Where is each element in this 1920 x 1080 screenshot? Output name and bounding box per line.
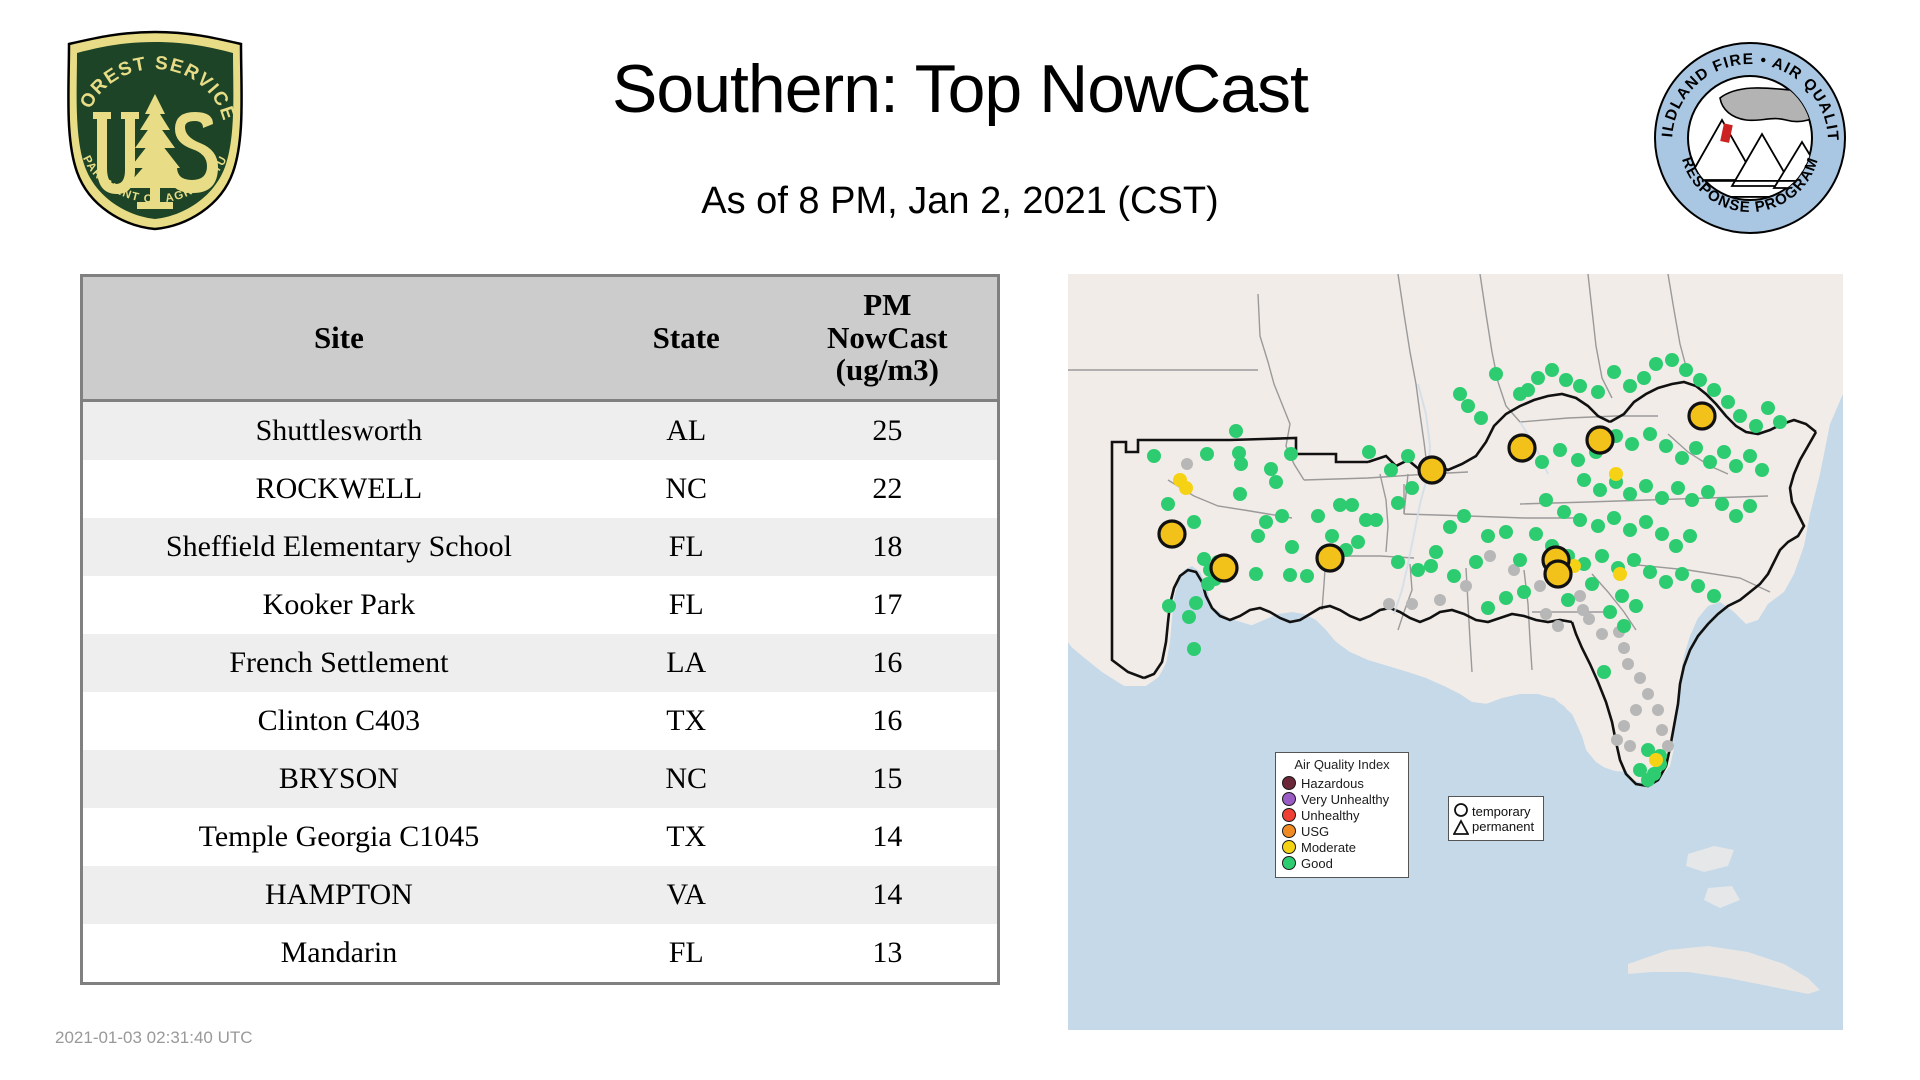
aqi-legend-label: Hazardous bbox=[1301, 776, 1364, 791]
table-row: BRYSONNC15 bbox=[83, 750, 997, 808]
aqi-legend-label: Unhealthy bbox=[1301, 808, 1360, 823]
site-cell: Mandarin bbox=[83, 924, 595, 982]
pm-header-line1: PM bbox=[778, 289, 997, 322]
aqi-legend-item: USG bbox=[1282, 823, 1402, 839]
pm-cell: 14 bbox=[778, 866, 997, 924]
aqi-swatch-icon bbox=[1282, 824, 1296, 838]
legend-temporary-label: temporary bbox=[1472, 804, 1534, 819]
table-header-row: Site State PM NowCast (ug/m3) bbox=[83, 277, 997, 401]
state-cell: NC bbox=[595, 750, 778, 808]
pm-cell: 22 bbox=[778, 460, 997, 518]
table-row: Temple Georgia C1045TX14 bbox=[83, 808, 997, 866]
aqi-legend-item: Unhealthy bbox=[1282, 807, 1402, 823]
table-row: HAMPTONVA14 bbox=[83, 866, 997, 924]
site-cell: French Settlement bbox=[83, 634, 595, 692]
page-subtitle: As of 8 PM, Jan 2, 2021 (CST) bbox=[360, 180, 1560, 223]
page-title: Southern: Top NowCast bbox=[360, 50, 1560, 128]
pm-header-line3: (ug/m3) bbox=[778, 354, 997, 387]
table-row: French SettlementLA16 bbox=[83, 634, 997, 692]
aqi-swatch-icon bbox=[1282, 856, 1296, 870]
pm-cell: 13 bbox=[778, 924, 997, 982]
table-row: ShuttlesworthAL25 bbox=[83, 401, 997, 461]
column-header-state: State bbox=[595, 277, 778, 401]
site-cell: BRYSON bbox=[83, 750, 595, 808]
table-row: ROCKWELLNC22 bbox=[83, 460, 997, 518]
site-cell: Temple Georgia C1045 bbox=[83, 808, 595, 866]
table-body: ShuttlesworthAL25ROCKWELLNC22Sheffield E… bbox=[83, 401, 997, 983]
state-cell: VA bbox=[595, 866, 778, 924]
aqi-legend-item: Good bbox=[1282, 855, 1402, 871]
pm-cell: 14 bbox=[778, 808, 997, 866]
aqi-legend-label: Very Unhealthy bbox=[1301, 792, 1389, 807]
pm-cell: 18 bbox=[778, 518, 997, 576]
aqi-legend-label: Good bbox=[1301, 856, 1333, 871]
site-cell: HAMPTON bbox=[83, 866, 595, 924]
state-cell: FL bbox=[595, 576, 778, 634]
state-cell: FL bbox=[595, 924, 778, 982]
usfs-shield-logo: FOREST SERVICE DEPARTMENT OF AGRICULTURE bbox=[55, 28, 255, 233]
site-cell: Clinton C403 bbox=[83, 692, 595, 750]
state-cell: LA bbox=[595, 634, 778, 692]
pm-cell: 16 bbox=[778, 692, 997, 750]
column-header-pm-nowcast: PM NowCast (ug/m3) bbox=[778, 277, 997, 401]
aqi-legend-item: Very Unhealthy bbox=[1282, 791, 1402, 807]
table-row: Kooker ParkFL17 bbox=[83, 576, 997, 634]
aqi-swatch-icon bbox=[1282, 792, 1296, 806]
marker-type-legend: temporary permanent bbox=[1448, 796, 1544, 841]
wfaqrp-logo: WILDLAND FIRE • AIR QUALITY RESPONSE PRO… bbox=[1650, 38, 1850, 238]
pm-cell: 16 bbox=[778, 634, 997, 692]
generation-timestamp: 2021-01-03 02:31:40 UTC bbox=[55, 1028, 253, 1048]
table-row: Sheffield Elementary SchoolFL18 bbox=[83, 518, 997, 576]
table-row: MandarinFL13 bbox=[83, 924, 997, 982]
site-cell: ROCKWELL bbox=[83, 460, 595, 518]
pm-cell: 25 bbox=[778, 401, 997, 461]
monitor-map[interactable] bbox=[1068, 274, 1843, 1030]
site-cell: Shuttlesworth bbox=[83, 401, 595, 461]
aqi-swatch-icon bbox=[1282, 776, 1296, 790]
column-header-site: Site bbox=[83, 277, 595, 401]
pm-cell: 15 bbox=[778, 750, 997, 808]
aqi-legend-label: USG bbox=[1301, 824, 1329, 839]
aqi-swatch-icon bbox=[1282, 840, 1296, 854]
aqi-legend-item: Hazardous bbox=[1282, 775, 1402, 791]
aqi-legend-rows: HazardousVery UnhealthyUnhealthyUSGModer… bbox=[1282, 775, 1402, 871]
state-cell: FL bbox=[595, 518, 778, 576]
state-cell: TX bbox=[595, 692, 778, 750]
state-cell: TX bbox=[595, 808, 778, 866]
site-cell: Sheffield Elementary School bbox=[83, 518, 595, 576]
marker-shapes-icon bbox=[1453, 801, 1469, 837]
aqi-legend-label: Moderate bbox=[1301, 840, 1356, 855]
top-nowcast-table: Site State PM NowCast (ug/m3) Shuttleswo… bbox=[80, 274, 1000, 985]
legend-permanent-label: permanent bbox=[1472, 819, 1534, 834]
pm-header-line2: NowCast bbox=[778, 322, 997, 355]
state-cell: NC bbox=[595, 460, 778, 518]
state-cell: AL bbox=[595, 401, 778, 461]
table-row: Clinton C403TX16 bbox=[83, 692, 997, 750]
aqi-legend: Air Quality Index HazardousVery Unhealth… bbox=[1275, 752, 1409, 878]
aqi-legend-title: Air Quality Index bbox=[1282, 757, 1402, 772]
pm-cell: 17 bbox=[778, 576, 997, 634]
aqi-legend-item: Moderate bbox=[1282, 839, 1402, 855]
aqi-swatch-icon bbox=[1282, 808, 1296, 822]
site-cell: Kooker Park bbox=[83, 576, 595, 634]
